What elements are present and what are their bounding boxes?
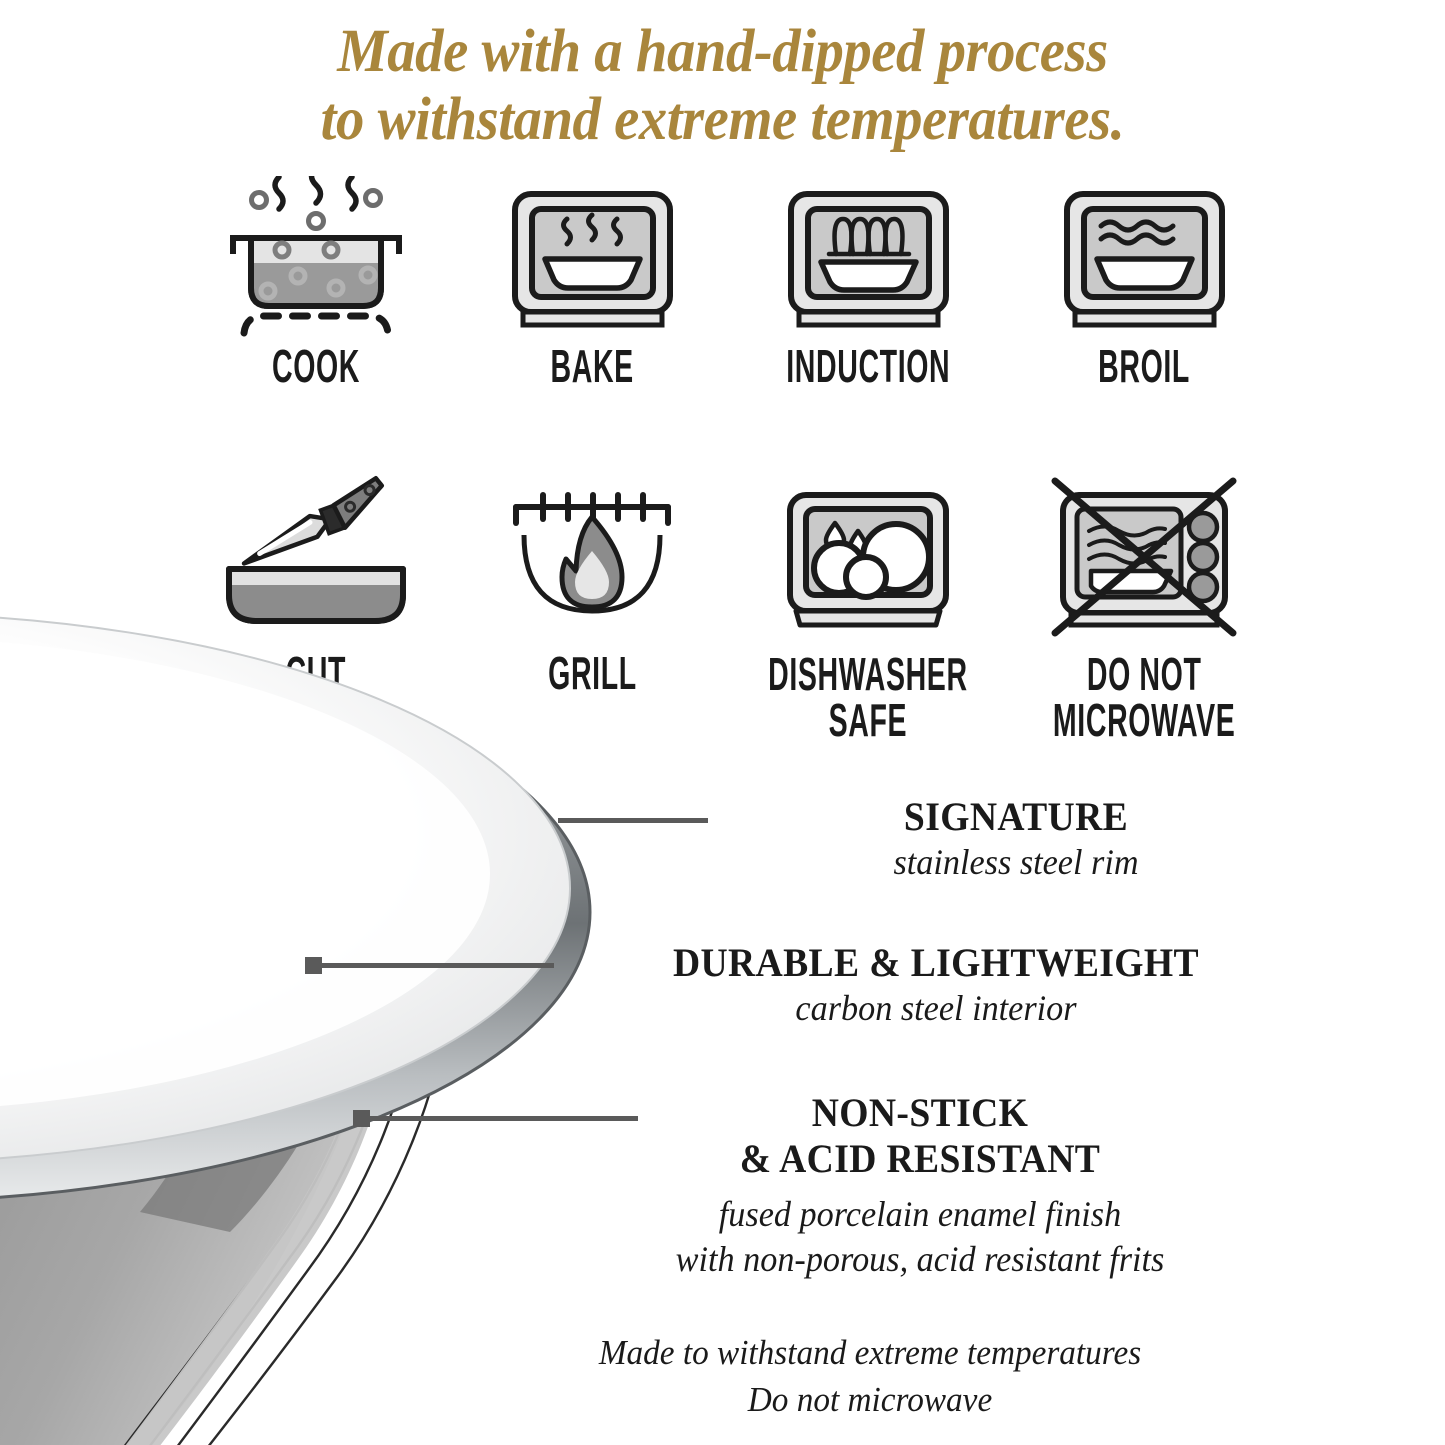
capability-broil: BROIL [1006,176,1282,389]
callout-title-line-2: & ACID RESISTANT [563,1136,1277,1182]
capability-dishwasher-safe: DISHWASHER SAFE [730,473,1006,743]
capability-label: DO NOT MICROWAVE [1053,651,1236,743]
callout-title: SIGNATURE [725,794,1308,840]
headline-line-1: Made with a hand-dipped process [337,18,1107,85]
capability-label: BAKE [550,344,633,389]
page-title: Made with a hand-dipped process to withs… [51,18,1395,155]
capability-label-line-1: DO NOT [1087,648,1202,700]
callout-durable-lightweight: DURABLE & LIGHTWEIGHT carbon steel inter… [556,940,1316,1031]
callout-subtitle: carbon steel interior [575,986,1297,1031]
infographic-canvas: Made with a hand-dipped process to withs… [0,0,1445,1445]
footnote-line-2: Do not microwave [462,1377,1279,1424]
leader-line-signature [558,818,708,823]
capability-label-line-2: MICROWAVE [1053,694,1236,746]
capability-label: INDUCTION [786,344,950,389]
footnote-line-1: Made to withstand extreme temperatures [462,1330,1279,1377]
capability-label: COOK [272,344,360,389]
callout-subtitle: stainless steel rim [722,840,1311,885]
footnote: Made to withstand extreme temperatures D… [462,1330,1279,1423]
no-microwave-icon [1049,473,1239,645]
callout-title-line-1: NON-STICK [563,1090,1277,1136]
oven-induction-icon [781,176,956,338]
capability-label-line-1: DISHWASHER [768,648,968,700]
capability-bake: BAKE [454,176,730,389]
pot-boiling-icon [221,176,411,338]
oven-broil-icon [1057,176,1232,338]
capability-label: BROIL [1098,344,1190,389]
leader-line-durable [312,963,554,968]
callout-signature: SIGNATURE stainless steel rim [706,794,1326,885]
callout-subtitle-line-1: fused porcelain enamel finish [559,1192,1281,1237]
leader-knob [353,1110,370,1127]
capability-cook: COOK [178,176,454,389]
callout-title: DURABLE & LIGHTWEIGHT [579,940,1293,986]
leader-knob [305,957,322,974]
callout-non-stick-acid-resistant: NON-STICK & ACID RESISTANT fused porcela… [540,1090,1300,1281]
capability-do-not-microwave: DO NOT MICROWAVE [1006,473,1282,743]
callout-subtitle-line-2: with non-porous, acid resistant frits [559,1237,1281,1282]
pan-cutaway-illustration [0,612,630,1445]
capability-label: DISHWASHER SAFE [768,651,968,743]
headline-line-2: to withstand extreme temperatures. [51,86,1395,154]
dishwasher-icon [778,473,958,645]
capability-induction: INDUCTION [730,176,1006,389]
icon-row-1: COOK BA [178,176,1283,389]
capability-label-line-2: SAFE [829,694,908,746]
oven-bake-icon [505,176,680,338]
